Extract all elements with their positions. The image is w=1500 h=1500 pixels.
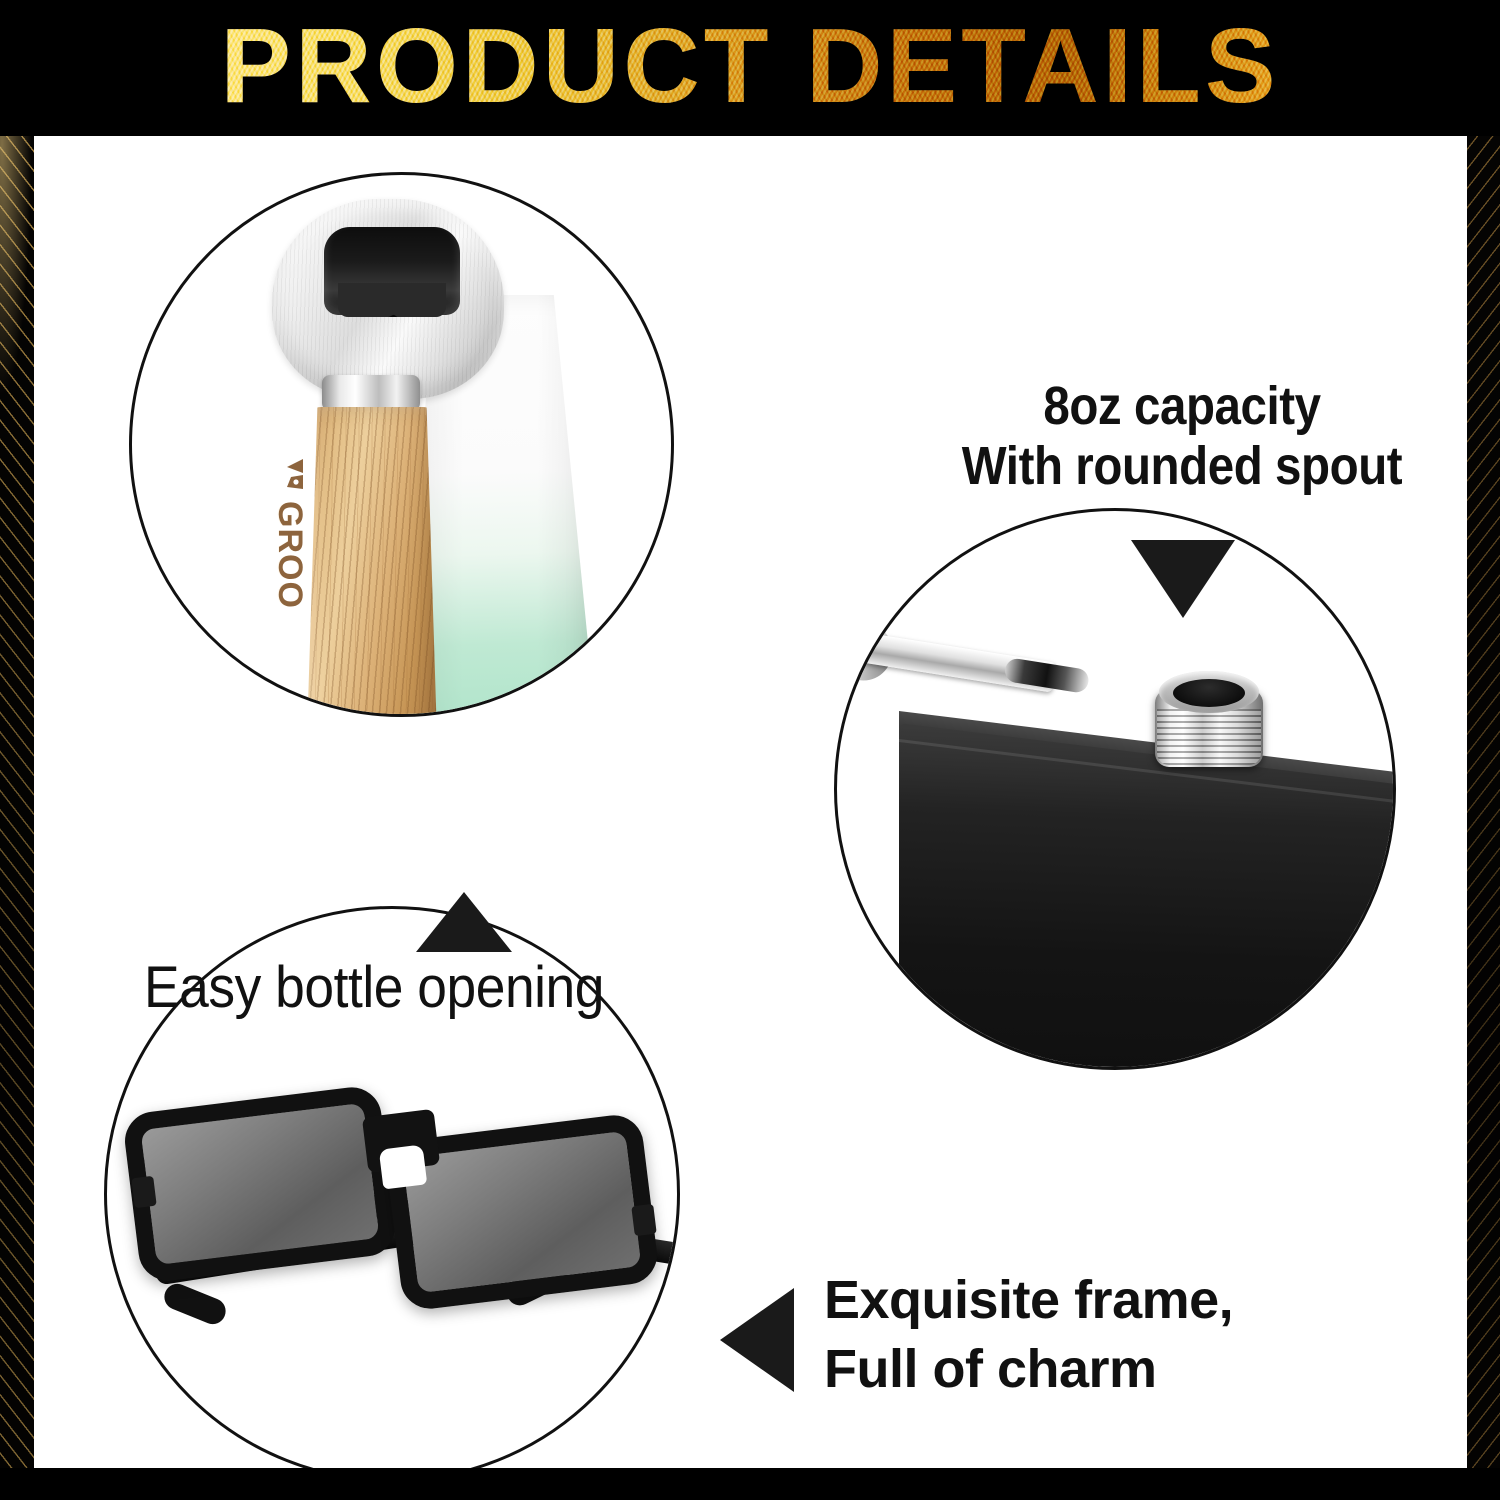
callout-opening-text: Easy bottle opening xyxy=(144,956,788,1020)
engraving-brand-text: GROO xyxy=(271,501,310,609)
sunglasses-shape xyxy=(104,1085,680,1385)
flask-spout-photo xyxy=(834,508,1396,1070)
spout-threads xyxy=(1157,709,1261,765)
tuxedo-icon xyxy=(275,457,305,491)
flask-spout xyxy=(1155,663,1263,773)
right-border-fade xyxy=(1466,136,1500,1468)
flask-body xyxy=(899,723,1396,1070)
left-border-glow xyxy=(0,136,34,416)
sunglasses-temple-tip-left xyxy=(160,1280,229,1328)
sunglasses-hinge-left xyxy=(131,1176,156,1208)
wooden-handle xyxy=(307,407,437,717)
content-panel: GROO xyxy=(34,136,1467,1468)
right-gold-border xyxy=(1466,136,1500,1468)
triangle-up-icon xyxy=(416,892,512,952)
opener-chrome-collar xyxy=(322,375,420,411)
infographic-canvas: PRODUCT DETAILS GROO xyxy=(0,0,1500,1500)
header-bar: PRODUCT DETAILS xyxy=(0,0,1500,136)
sunglasses-hinge-right xyxy=(631,1204,656,1236)
page-title: PRODUCT DETAILS xyxy=(220,13,1279,123)
spout-opening xyxy=(1173,679,1245,707)
bottle-opener-photo: GROO xyxy=(129,172,674,717)
callout-capacity-text: 8oz capacity With rounded spout xyxy=(909,376,1455,497)
triangle-left-icon xyxy=(720,1288,794,1392)
handle-engraving: GROO xyxy=(260,457,320,707)
callout-frame-text: Exquisite frame, Full of charm xyxy=(824,1266,1384,1404)
triangle-down-icon xyxy=(1131,540,1235,618)
bottle-cap-teeth xyxy=(338,283,446,317)
left-gold-border xyxy=(0,136,34,1468)
flask-cap-arm xyxy=(852,622,1108,716)
sunglasses-nose-gap xyxy=(379,1144,428,1189)
sunglasses-lens-left xyxy=(122,1084,399,1284)
